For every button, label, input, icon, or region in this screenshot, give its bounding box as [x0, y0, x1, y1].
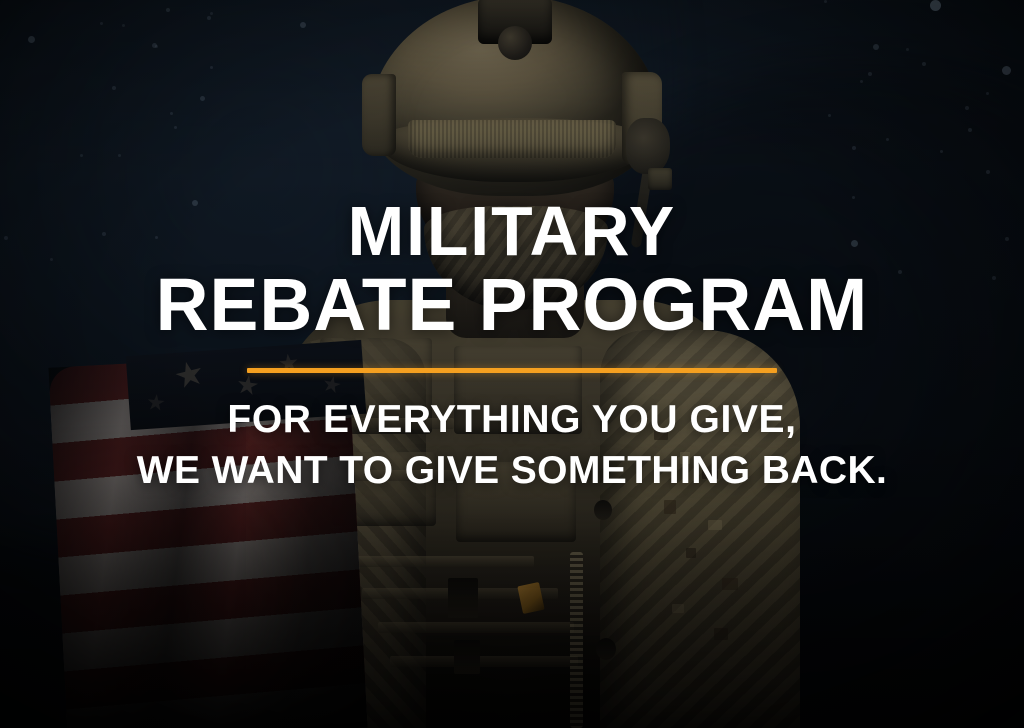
subtitle-line-1: FOR EVERYTHING YOU GIVE, [137, 397, 888, 443]
subtitle: FOR EVERYTHING YOU GIVE, WE WANT TO GIVE… [137, 397, 888, 494]
headline-line-2: REBATE PROGRAM [156, 271, 869, 339]
orange-divider [247, 368, 777, 373]
banner-content: MILITARY REBATE PROGRAM FOR EVERYTHING Y… [0, 0, 1024, 728]
page-title: MILITARY REBATE PROGRAM [152, 199, 872, 339]
military-rebate-banner: ★ ★ ★ ★ ★ MILITARY REBATE PROGRAM FOR EV… [0, 0, 1024, 728]
subtitle-line-2: WE WANT TO GIVE SOMETHING BACK. [137, 448, 888, 494]
headline-line-1: MILITARY [163, 199, 861, 263]
